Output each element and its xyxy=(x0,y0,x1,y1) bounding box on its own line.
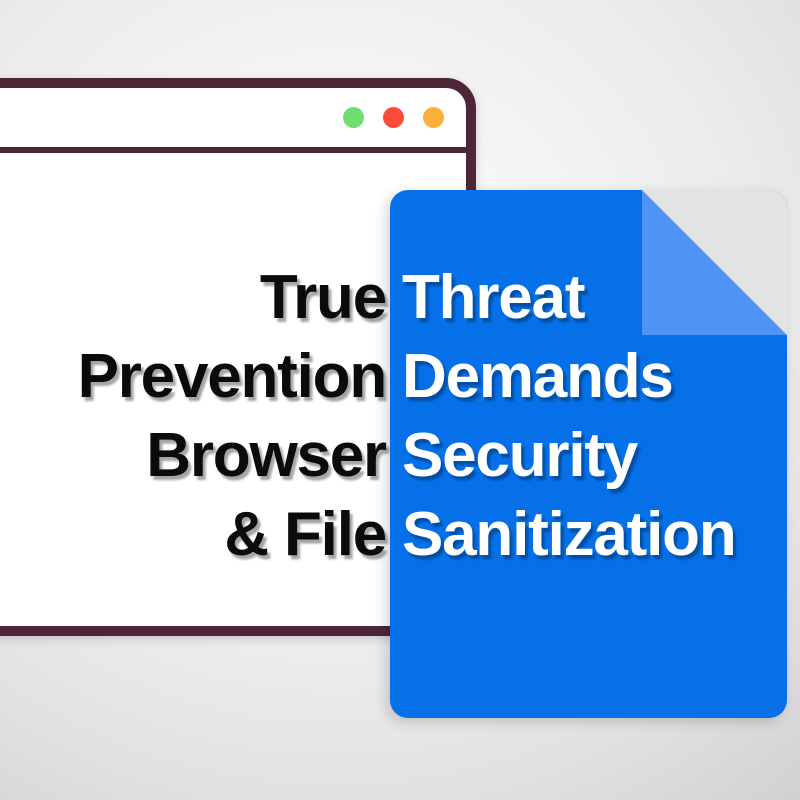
file-corner-cutout xyxy=(641,190,787,336)
window-control-dots xyxy=(343,107,444,128)
file-document-icon xyxy=(390,190,787,718)
window-dot-orange-icon[interactable] xyxy=(423,107,444,128)
browser-titlebar xyxy=(0,88,466,153)
poster-canvas: True Prevention Browser & File Threat De… xyxy=(0,0,800,800)
window-dot-red-icon[interactable] xyxy=(383,107,404,128)
window-dot-green-icon[interactable] xyxy=(343,107,364,128)
